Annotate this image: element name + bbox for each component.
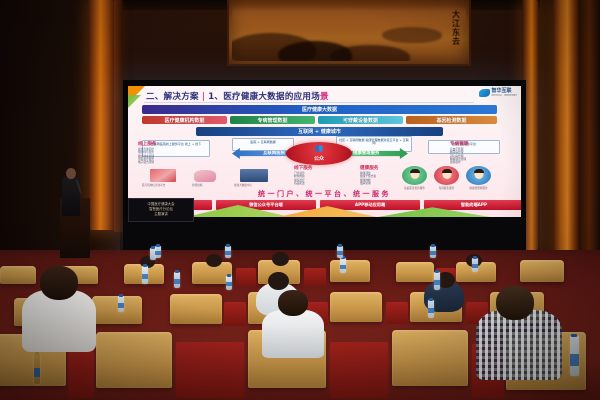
bottle-cap bbox=[119, 294, 123, 297]
chair bbox=[96, 332, 172, 388]
bottle-cap bbox=[35, 352, 39, 355]
podium-sign-text: 中国医疗健康大会 智慧医疗分论坛 主题演讲 bbox=[129, 202, 193, 217]
slide-photo bbox=[150, 169, 176, 182]
service-block: 线上服务 在线咨询问诊 预约挂号服务 健康档案管理 远程会诊服务 电子处方流转 bbox=[138, 142, 156, 164]
bottle-label bbox=[430, 251, 436, 255]
slide-photo-label: 智能终端 bbox=[192, 183, 202, 187]
bottle-cap bbox=[571, 334, 577, 337]
calligraphy-char: 大 bbox=[452, 11, 460, 19]
slide-title-section: 二、解决方案 bbox=[146, 92, 199, 102]
water-bottle bbox=[430, 246, 436, 258]
slide-photo-label: 健康大数据中心 bbox=[234, 183, 252, 187]
bottle-label bbox=[570, 354, 579, 366]
slide-title: 二、解决方案|1、医疗健康大数据的应用场景 bbox=[146, 90, 329, 102]
bottle-label bbox=[226, 282, 232, 286]
audience-head bbox=[278, 290, 308, 316]
chair bbox=[330, 292, 382, 322]
wooden-column-far-right bbox=[579, 0, 600, 258]
logo-tagline: ZHIHUA · INTERNET bbox=[492, 94, 517, 97]
avatar bbox=[402, 166, 427, 185]
bottle-label bbox=[34, 368, 40, 377]
bottle-cap bbox=[143, 264, 147, 267]
slide-network-bar: 互联网 + 健康城市 bbox=[196, 127, 443, 136]
bottle-label bbox=[118, 303, 124, 308]
audience-head bbox=[40, 266, 78, 300]
chair-cover bbox=[224, 302, 246, 326]
chair bbox=[396, 262, 434, 282]
water-bottle bbox=[428, 300, 434, 318]
bottle-label bbox=[472, 264, 478, 268]
podium-sign: 中国医疗健康大会 智慧医疗分论坛 主题演讲 bbox=[128, 198, 194, 222]
service-block: 专病管理 高血压管理 糖尿病管理 冠心病管理 肿瘤随访管理 康复指导 bbox=[450, 142, 468, 164]
painting-mountain bbox=[382, 27, 442, 43]
bottle-cap bbox=[227, 274, 231, 277]
avatar-hair bbox=[474, 169, 484, 173]
audience-person bbox=[262, 310, 324, 358]
wooden-column-right bbox=[553, 0, 579, 258]
chair bbox=[0, 266, 36, 284]
slide-title-topic: 1、医疗健康大数据的应用场 bbox=[208, 92, 320, 102]
slide-category-bar: 可穿戴设备数据 bbox=[318, 116, 403, 124]
wall-painting: 大 江 东 去 bbox=[227, 0, 471, 66]
bottle-label bbox=[142, 274, 148, 279]
chair-cover bbox=[236, 268, 256, 286]
water-bottle bbox=[118, 296, 124, 312]
speaker-head bbox=[66, 168, 76, 179]
chair-cover bbox=[330, 342, 388, 398]
bottle-cap bbox=[338, 244, 342, 247]
service-block: 健康服务 健康评估 健康干预方案 健康体检 慢病管理 bbox=[360, 166, 378, 185]
chair bbox=[520, 260, 564, 282]
bottle-label bbox=[337, 251, 343, 255]
logo-mark-icon bbox=[479, 89, 490, 97]
chair-cover bbox=[386, 302, 408, 324]
painting-mist bbox=[232, 9, 466, 27]
service-item: 电子处方流转 bbox=[138, 161, 156, 164]
chair bbox=[92, 296, 142, 324]
water-bottle bbox=[174, 272, 180, 288]
water-bottle bbox=[225, 246, 231, 258]
bottle-label bbox=[434, 280, 440, 285]
bottle-label bbox=[340, 265, 346, 270]
slide-callout: 医院 + 互联网数据 bbox=[232, 138, 294, 151]
center-public-node: 👥 公众 bbox=[286, 142, 352, 165]
slide-main-bar: 医疗健康大数据 bbox=[142, 105, 497, 114]
slide-title-separator: | bbox=[202, 92, 205, 102]
chair bbox=[330, 260, 370, 282]
wooden-column-left-shadow bbox=[114, 0, 123, 232]
water-bottle bbox=[472, 258, 478, 272]
audience-area bbox=[0, 258, 600, 400]
slide-logo: 智华互联 ZHIHUA · INTERNET bbox=[479, 89, 517, 97]
audience-person bbox=[476, 310, 562, 380]
slide-category-bar: 基因检测数据 bbox=[406, 116, 497, 124]
calligraphy-char: 去 bbox=[452, 38, 460, 46]
avatar bbox=[466, 166, 491, 185]
water-bottle bbox=[142, 266, 148, 284]
avatar-hair bbox=[442, 169, 452, 173]
bottle-label bbox=[225, 251, 231, 255]
people-icon: 👥 bbox=[315, 145, 324, 152]
calligraphy-char: 东 bbox=[452, 29, 460, 37]
water-bottle bbox=[337, 246, 343, 258]
water-bottle bbox=[34, 354, 40, 384]
bottle-label bbox=[155, 251, 161, 255]
avatar bbox=[434, 166, 459, 185]
calligraphy-char: 江 bbox=[452, 20, 460, 28]
arrow-left-label: 互联网医院 bbox=[263, 150, 285, 156]
painting-mountain bbox=[278, 41, 352, 61]
service-item: 康复指导 bbox=[450, 161, 468, 164]
conference-hall-photo: 大 江 东 去 智华互联 ZHIHUA · INTERNET 二、解决方案|1、… bbox=[0, 0, 600, 400]
slide-photo-label: 医疗机构信息化平台 bbox=[142, 183, 165, 187]
painting-canvas: 大 江 东 去 bbox=[232, 3, 466, 61]
bottle-cap bbox=[175, 270, 179, 273]
podium-sign-line: 主题演讲 bbox=[129, 212, 193, 217]
bottle-label bbox=[174, 279, 180, 284]
bottle-cap bbox=[429, 298, 433, 301]
center-public-label: 公众 bbox=[286, 155, 352, 162]
slide-photo bbox=[240, 169, 268, 182]
service-item: 慢病管理 bbox=[360, 182, 378, 185]
chair-cover bbox=[304, 268, 326, 286]
chair bbox=[392, 330, 468, 386]
slide-category-bar: 医疗健康机构数据 bbox=[142, 116, 227, 124]
water-bottle bbox=[226, 276, 232, 290]
bottle-cap bbox=[226, 244, 230, 247]
audience-head bbox=[272, 252, 289, 266]
wooden-column-left bbox=[88, 0, 114, 230]
audience-head bbox=[268, 272, 289, 290]
water-bottle bbox=[434, 272, 440, 290]
avatar-hair bbox=[410, 169, 420, 173]
bottle-cap bbox=[156, 244, 160, 247]
bottle-cap bbox=[435, 270, 439, 273]
service-block: 线下服务 门诊就诊 检查检验 住院诊疗 药品配送 bbox=[294, 166, 312, 185]
bottle-cap bbox=[473, 256, 477, 259]
water-bottle bbox=[570, 336, 579, 376]
water-bottle bbox=[340, 258, 346, 273]
slide-corner-green bbox=[128, 95, 141, 108]
painting-calligraphy: 大 江 东 去 bbox=[452, 11, 460, 46]
slide-title-rule bbox=[144, 102, 474, 103]
bottle-cap bbox=[431, 244, 435, 247]
audience-head bbox=[206, 254, 222, 267]
slide-title-highlight: 景 bbox=[320, 92, 329, 102]
water-bottle bbox=[155, 246, 161, 258]
slide-category-bar: 专病管理数据 bbox=[230, 116, 315, 124]
bottle-label bbox=[428, 308, 434, 313]
service-item: 药品配送 bbox=[294, 182, 312, 185]
chair bbox=[170, 294, 222, 324]
arrow-right-label: 健康管理服务 bbox=[353, 150, 379, 156]
chair-cover bbox=[176, 342, 244, 398]
audience-head bbox=[496, 286, 534, 320]
slide-photo bbox=[194, 170, 216, 182]
chair-cover bbox=[68, 344, 94, 398]
